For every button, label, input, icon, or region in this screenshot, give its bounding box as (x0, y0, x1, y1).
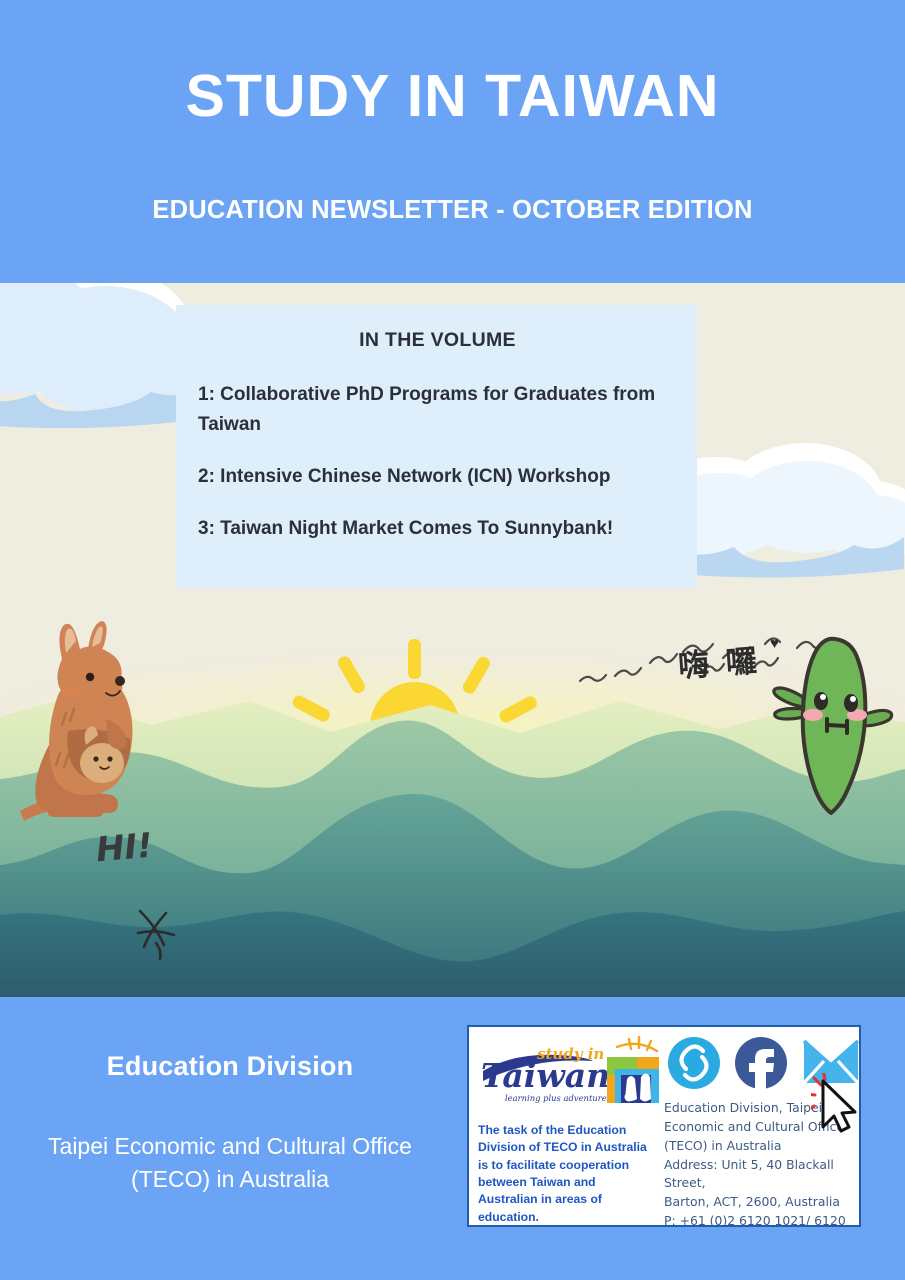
study-in-taiwan-logo: Taiwan study in learning plus adventure (479, 1035, 664, 1107)
link-icon (668, 1037, 720, 1089)
newsletter-poster: 嗨 囉 ♥ HI! STUDY IN TAIWAN EDUCATION NEWS… (0, 0, 905, 1280)
volume-heading: IN THE VOLUME (198, 329, 677, 352)
mascot-greeting-text: 嗨 囉 (677, 635, 762, 686)
contact-line-6: P: +61 (0)2 6120 1021/ 6120 (664, 1212, 861, 1227)
svg-text:learning plus adventure: learning plus adventure (505, 1093, 607, 1103)
page-subtitle: EDUCATION NEWSLETTER - OCTOBER EDITION (0, 196, 905, 225)
kangaroo-illustration (10, 603, 210, 823)
volume-item-2[interactable]: 2: Intensive Chinese Network (ICN) Works… (198, 462, 677, 492)
footer-heading: Education Division (0, 1051, 460, 1082)
mouse-cursor-icon (811, 1073, 857, 1135)
contact-line-3: (TECO) in Australia (664, 1137, 861, 1156)
volume-item-3[interactable]: 3: Taiwan Night Market Comes To Sunnyban… (198, 514, 677, 544)
card-blurb: The task of the Education Division of TE… (478, 1122, 653, 1226)
facebook-icon (735, 1037, 787, 1089)
footer-text-block: Education Division Taipei Economic and C… (0, 1051, 460, 1197)
contact-line-5: Barton, ACT, 2600, Australia (664, 1193, 861, 1212)
scribble-doodle-icon (132, 903, 182, 963)
in-the-volume-box: IN THE VOLUME 1: Collaborative PhD Progr… (176, 305, 697, 588)
taiwan-mascot-icon (765, 631, 895, 821)
volume-item-1[interactable]: 1: Collaborative PhD Programs for Gradua… (198, 380, 677, 440)
contact-card: Taiwan study in learning plus adventure (467, 1025, 861, 1227)
footer-subheading: Taipei Economic and Cultural Office (TEC… (0, 1130, 460, 1197)
page-title: STUDY IN TAIWAN (0, 66, 905, 128)
kangaroo-greeting-text: HI! (94, 826, 154, 871)
poster-header: STUDY IN TAIWAN EDUCATION NEWSLETTER - O… (0, 0, 905, 283)
mascot-heart-icon: ♥ (770, 635, 779, 652)
svg-text:study in: study in (537, 1045, 604, 1063)
contact-line-4: Address: Unit 5, 40 Blackall Street, (664, 1156, 861, 1194)
